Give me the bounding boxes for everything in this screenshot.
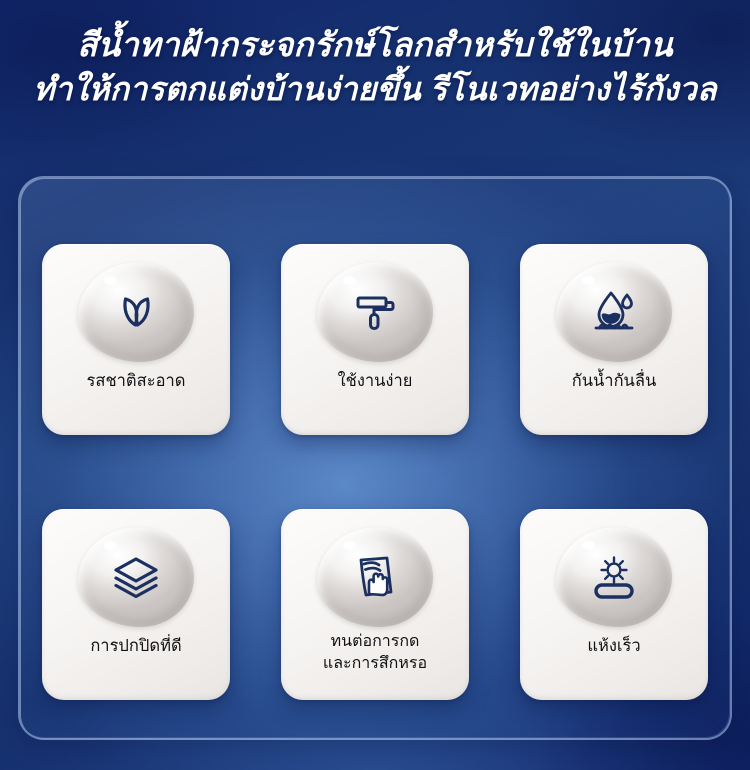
feature-label: การปกปิดที่ดี [42,635,230,657]
icon-well [313,525,437,629]
feature-label: แห้งเร็ว [520,635,708,657]
icon-well [313,260,437,364]
feature-label: ใช้งานง่าย [281,370,469,392]
feature-card-scrub-resistant[interactable]: ทนต่อการกด และการสึกหรอ [281,509,469,700]
paint-roller-icon [347,284,403,340]
feature-label-line-1: การปกปิดที่ดี [90,637,181,655]
promo-banner: สีน้ำทาฝ้ากระจกรักษ์โลกสำหรับใช้ในบ้าน ท… [0,0,750,770]
quick-dry-sun-icon [586,549,642,605]
feature-card-good-coverage[interactable]: การปกปิดที่ดี [42,509,230,700]
feature-card-clean-scent[interactable]: รสชาติสะอาด [42,244,230,435]
feature-card-waterproof-antislip[interactable]: กันน้ำกันลื่น [520,244,708,435]
icon-well [552,525,676,629]
water-drop-icon [586,284,642,340]
icon-well [552,260,676,364]
leaf-icon [108,284,164,340]
headline-line-2: ทำให้การตกแต่งบ้านง่ายขึ้น รีโนเวทอย่างไ… [0,67,750,112]
icon-well [74,260,198,364]
feature-grid: รสชาติสะอาด ใช้งานง่าย [42,244,708,700]
feature-label-line-1: ทนต่อการกด [331,633,420,650]
feature-label: กันน้ำกันลื่น [520,370,708,392]
page-title: สีน้ำทาฝ้ากระจกรักษ์โลกสำหรับใช้ในบ้าน ท… [0,22,750,112]
feature-label-line-1: ใช้งานง่าย [338,372,413,390]
feature-label-line-1: รสชาติสะอาด [87,372,186,390]
feature-label: รสชาติสะอาด [42,370,230,392]
feature-card-quick-dry[interactable]: แห้งเร็ว [520,509,708,700]
wipe-hand-icon [347,549,403,605]
feature-label-line-1: แห้งเร็ว [587,637,640,655]
layers-icon [108,549,164,605]
feature-label: ทนต่อการกด และการสึกหรอ [281,631,469,675]
feature-label-line-1: กันน้ำกันลื่น [572,372,656,390]
headline-line-1: สีน้ำทาฝ้ากระจกรักษ์โลกสำหรับใช้ในบ้าน [0,22,750,67]
feature-label-line-2: และการสึกหรอ [285,653,465,675]
feature-card-easy-to-use[interactable]: ใช้งานง่าย [281,244,469,435]
icon-well [74,525,198,629]
